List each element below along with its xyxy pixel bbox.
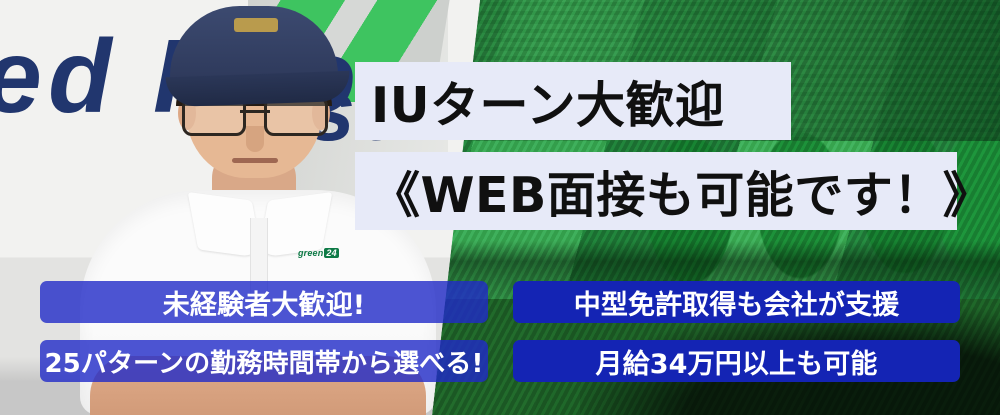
feature-pill-license-support: 中型免許取得も会社が支援 <box>513 281 960 323</box>
feature-pill-monthly-salary: 月給34万円以上も可能 <box>513 340 960 382</box>
shirt-logo-wordmark: green <box>298 248 323 258</box>
eyeglass-bridge <box>240 110 270 113</box>
headline-secondary: 《WEB面接も可能です！》 <box>355 152 957 230</box>
recruitment-banner: ed Foo ist green24 <box>0 0 1000 415</box>
mouth <box>232 158 278 163</box>
shirt-logo-mark: 24 <box>324 248 338 258</box>
cap-emblem-icon <box>234 18 278 32</box>
shirt-company-logo: green24 <box>298 248 339 258</box>
feature-pill-shift-patterns: 25パターンの勤務時間帯から選べる! <box>40 340 488 382</box>
nose <box>246 126 264 152</box>
headline-primary: IUターン大歓迎 <box>355 62 791 140</box>
feature-pill-inexperienced-welcome: 未経験者大歓迎! <box>40 281 488 323</box>
